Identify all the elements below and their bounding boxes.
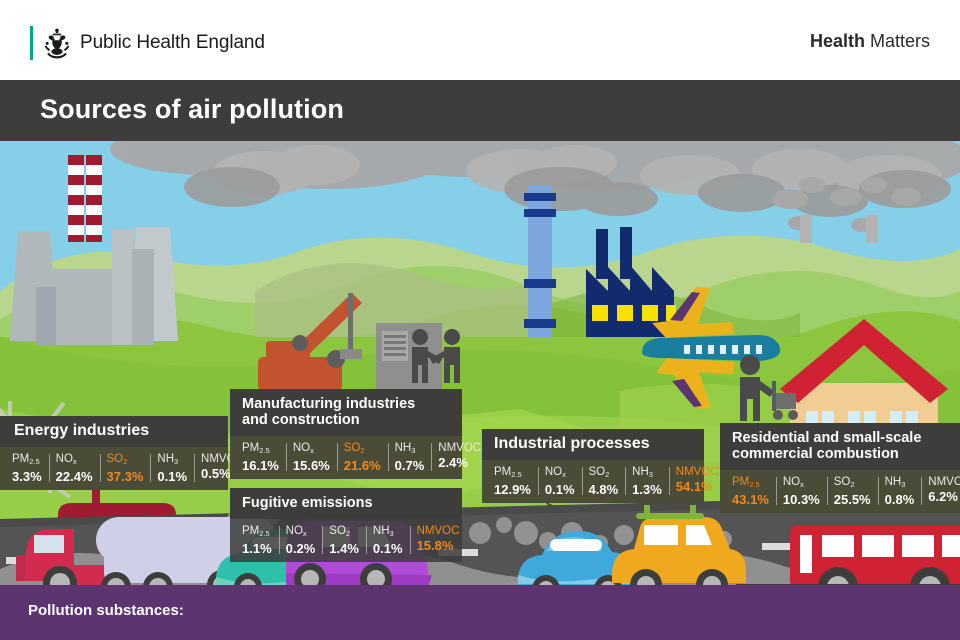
pollution-substances-legend: Pollution substances: SO2 - Sulphur diox…	[0, 585, 960, 640]
stat-nmvoc: NMVOC 54.1%	[669, 465, 726, 497]
stat-nox: NOx 0.2%	[279, 524, 323, 556]
stat-value: 43.1%	[732, 492, 769, 507]
stat-label: SO2	[329, 524, 359, 541]
page-title: Sources of air pollution	[40, 94, 344, 125]
stat-pm25: PM2.5 43.1%	[729, 475, 776, 507]
stat-value: 21.6%	[344, 458, 381, 473]
stat-value: 3.3%	[12, 469, 42, 484]
stat-label: NH3	[632, 465, 662, 482]
stat-value: 16.1%	[242, 458, 279, 473]
health-matters-bold: Health	[810, 31, 865, 51]
panel-data-row: PM2.5 1.1% NOx 0.2% SO2 1.4% NH3 0.1% NM…	[230, 519, 462, 562]
public-health-england-logo: Public Health England	[30, 26, 265, 60]
stat-label: NMVOC	[676, 465, 719, 479]
panel-title: Energy industries	[0, 416, 228, 447]
stat-nmvoc: NMVOC 15.8%	[410, 524, 467, 556]
stat-nh3: NH3 0.8%	[878, 475, 922, 507]
panel-data-row: PM2.5 16.1% NOx 15.6% SO2 21.6% NH3 0.7%…	[230, 436, 462, 479]
stat-label: NOx	[293, 441, 330, 458]
stat-nmvoc: NMVOC 2.4%	[431, 441, 488, 473]
organisation-name: Public Health England	[80, 32, 265, 54]
stat-value: 25.5%	[834, 492, 871, 507]
stat-value: 2.4%	[438, 455, 481, 470]
stat-label: NMVOC	[417, 524, 460, 538]
stat-label: PM2.5	[242, 524, 272, 541]
panel-title-line-1: Manufacturing industries	[242, 396, 450, 412]
stat-nox: NOx 10.3%	[776, 475, 827, 507]
stat-nh3: NH3 1.3%	[625, 465, 669, 497]
stat-value: 0.1%	[373, 541, 403, 556]
panel-title: Industrial processes	[482, 429, 704, 460]
stat-label: PM2.5	[494, 465, 531, 482]
stat-nh3: NH3 0.7%	[388, 441, 432, 473]
stat-label: NOx	[286, 524, 316, 541]
stat-value: 0.1%	[545, 482, 575, 497]
illustration-scene: Energy industries PM2.5 3.3% NOx 22.4% S…	[0, 141, 960, 585]
stat-label: NH3	[373, 524, 403, 541]
stat-value: 0.2%	[286, 541, 316, 556]
stat-pm25: PM2.5 3.3%	[9, 452, 49, 484]
stat-label: NH3	[395, 441, 425, 458]
stat-value: 1.1%	[242, 541, 272, 556]
stat-so2: SO2 4.8%	[582, 465, 626, 497]
stat-label: SO2	[344, 441, 381, 458]
stat-value: 0.1%	[157, 469, 187, 484]
panel-data-row: PM2.5 43.1% NOx 10.3% SO2 25.5% NH3 0.8%…	[720, 470, 960, 513]
stat-value: 12.9%	[494, 482, 531, 497]
stat-label: NH3	[885, 475, 915, 492]
brand-bar: Public Health England Health Matters	[0, 0, 960, 80]
panel-energy-industries[interactable]: Energy industries PM2.5 3.3% NOx 22.4% S…	[0, 416, 228, 490]
panel-title-line-2: and construction	[242, 412, 450, 428]
stat-value: 15.6%	[293, 458, 330, 473]
stat-value: 4.8%	[589, 482, 619, 497]
title-bar: Sources of air pollution	[0, 80, 960, 141]
health-matters-light: Matters	[865, 31, 930, 51]
panel-title: Manufacturing industries and constructio…	[230, 389, 462, 436]
stat-nox: NOx 15.6%	[286, 441, 337, 473]
panel-data-row: PM2.5 3.3% NOx 22.4% SO2 37.3% NH3 0.1% …	[0, 447, 228, 490]
stat-value: 54.1%	[676, 479, 719, 494]
stat-label: NH3	[157, 452, 187, 469]
panel-manufacturing-industries-and-construction[interactable]: Manufacturing industries and constructio…	[230, 389, 462, 479]
stat-nox: NOx 22.4%	[49, 452, 100, 484]
stat-value: 1.4%	[329, 541, 359, 556]
stat-nh3: NH3 0.1%	[150, 452, 194, 484]
stat-label: NOx	[56, 452, 93, 469]
stat-pm25: PM2.5 1.1%	[239, 524, 279, 556]
panel-title-line-1: Residential and small-scale	[732, 430, 948, 446]
stat-value: 0.8%	[885, 492, 915, 507]
stat-so2: SO2 25.5%	[827, 475, 878, 507]
stat-label: PM2.5	[242, 441, 279, 458]
panel-title-line-2: commercial combustion	[732, 446, 948, 462]
panel-industrial-processes[interactable]: Industrial processes PM2.5 12.9% NOx 0.1…	[482, 429, 704, 503]
stat-value: 0.7%	[395, 458, 425, 473]
stat-nmvoc: NMVOC 6.2%	[921, 475, 960, 507]
stat-label: PM2.5	[12, 452, 42, 469]
health-matters-wordmark: Health Matters	[810, 31, 930, 52]
stat-label: PM2.5	[732, 475, 769, 492]
stat-label: SO2	[107, 452, 144, 469]
stat-label: NOx	[545, 465, 575, 482]
stat-value: 15.8%	[417, 538, 460, 553]
stat-value: 37.3%	[107, 469, 144, 484]
brand-accent-rule	[30, 26, 33, 60]
stat-value: 22.4%	[56, 469, 93, 484]
stat-label: SO2	[834, 475, 871, 492]
stat-value: 6.2%	[928, 489, 960, 504]
stat-so2: SO2 1.4%	[322, 524, 366, 556]
panel-title: Fugitive emissions	[230, 488, 462, 519]
stat-label: NOx	[783, 475, 820, 492]
panel-title: Residential and small-scale commercial c…	[720, 423, 960, 470]
infographic-root: Public Health England Health Matters Sou…	[0, 0, 960, 640]
stat-label: SO2	[589, 465, 619, 482]
stat-nh3: NH3 0.1%	[366, 524, 410, 556]
stat-label: NMVOC	[438, 441, 481, 455]
stat-so2: SO2 21.6%	[337, 441, 388, 473]
stat-pm25: PM2.5 16.1%	[239, 441, 286, 473]
stat-pm25: PM2.5 12.9%	[491, 465, 538, 497]
royal-crest-icon	[43, 27, 71, 59]
panel-fugitive-emissions[interactable]: Fugitive emissions PM2.5 1.1% NOx 0.2% S…	[230, 488, 462, 562]
stat-so2: SO2 37.3%	[100, 452, 151, 484]
panel-residential-and-small-scale-commercial-combustion[interactable]: Residential and small-scale commercial c…	[720, 423, 960, 513]
legend-label: Pollution substances:	[28, 602, 184, 619]
stat-label: NMVOC	[928, 475, 960, 489]
stat-value: 1.3%	[632, 482, 662, 497]
stat-value: 10.3%	[783, 492, 820, 507]
stat-nox: NOx 0.1%	[538, 465, 582, 497]
panel-data-row: PM2.5 12.9% NOx 0.1% SO2 4.8% NH3 1.3% N…	[482, 460, 704, 503]
